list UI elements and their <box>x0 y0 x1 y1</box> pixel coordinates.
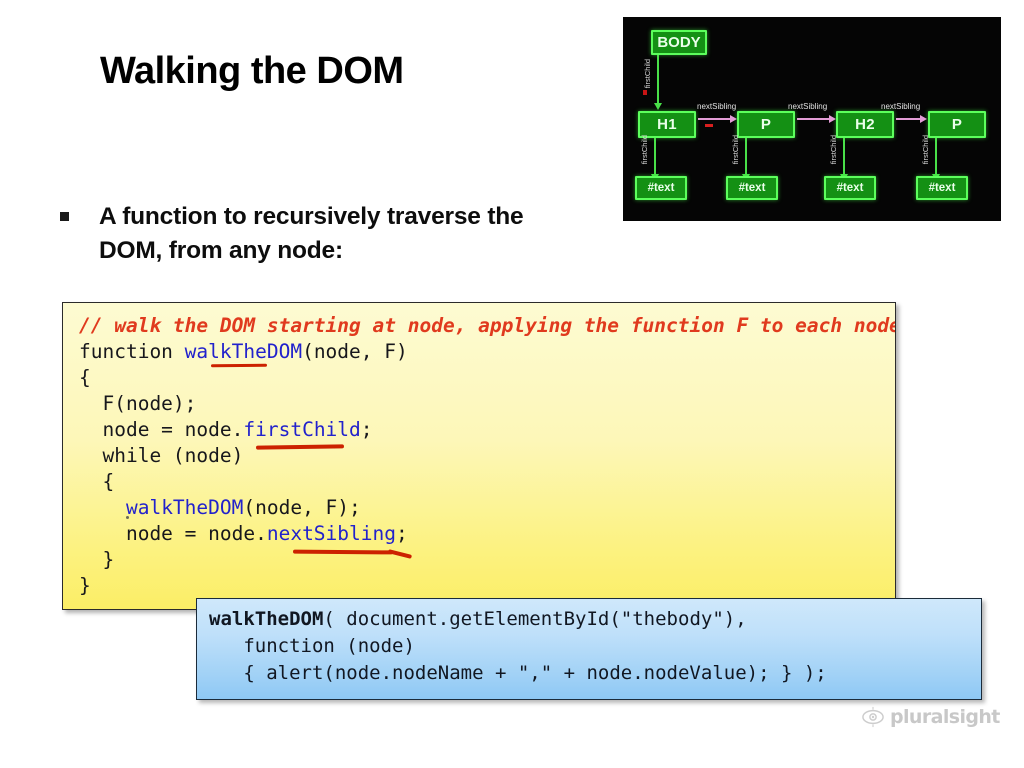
diagram-node-text-3: #text <box>824 176 876 200</box>
red-dash-mark <box>705 124 713 127</box>
first-child-label-h1: firstChild <box>640 135 649 164</box>
diagram-node-text-2: #text <box>726 176 778 200</box>
pluralsight-watermark: pluralsight <box>862 706 1000 728</box>
diagram-node-h1: H1 <box>638 111 696 138</box>
first-child-label-p1: firstChild <box>731 135 740 164</box>
square-bullet-icon <box>60 212 69 221</box>
first-child-label-body: firstChild <box>643 59 652 88</box>
code-snippet-text: // walk the DOM starting at node, applyi… <box>79 313 896 599</box>
stray-dot-mark <box>126 516 129 519</box>
bullet-item-label: A function to recursively traverse the D… <box>99 200 530 268</box>
diagram-node-text-1: #text <box>635 176 687 200</box>
first-child-arrow-p1-text <box>745 138 747 175</box>
next-sibling-arrow-h2-p <box>896 118 921 120</box>
diagram-node-p-1: P <box>737 111 795 138</box>
code-snippet-panel: // walk the DOM starting at node, applyi… <box>62 302 896 610</box>
usage-example-text: walkTheDOM( document.getElementById("the… <box>209 606 827 687</box>
pluralsight-wordmark: pluralsight <box>890 706 1000 728</box>
bullet-list-item: A function to recursively traverse the D… <box>60 200 530 268</box>
first-child-arrow-p2-text <box>935 138 937 175</box>
first-child-arrow-h1-text <box>654 138 656 175</box>
diagram-node-h2: H2 <box>836 111 894 138</box>
next-sibling-arrow-p-h2 <box>797 118 830 120</box>
red-tick-mark <box>643 90 647 95</box>
page-title: Walking the DOM <box>100 50 404 93</box>
next-sibling-arrow-h1-p <box>698 118 731 120</box>
next-sibling-label-1: nextSibling <box>697 102 736 111</box>
first-child-label-p2: firstChild <box>921 135 930 164</box>
next-sibling-label-3: nextSibling <box>881 102 920 111</box>
next-sibling-label-2: nextSibling <box>788 102 827 111</box>
usage-example-callout: walkTheDOM( document.getElementById("the… <box>196 598 982 700</box>
diagram-node-p-2: P <box>928 111 986 138</box>
first-child-arrow-h2-text <box>843 138 845 175</box>
diagram-node-text-4: #text <box>916 176 968 200</box>
diagram-node-body: BODY <box>651 30 707 55</box>
pluralsight-eye-icon <box>862 706 884 728</box>
dom-tree-diagram-image: BODY firstChild H1 P H2 P nextSibling ne… <box>623 17 1001 221</box>
first-child-label-h2: firstChild <box>829 135 838 164</box>
first-child-arrow-body-h1 <box>657 55 659 104</box>
